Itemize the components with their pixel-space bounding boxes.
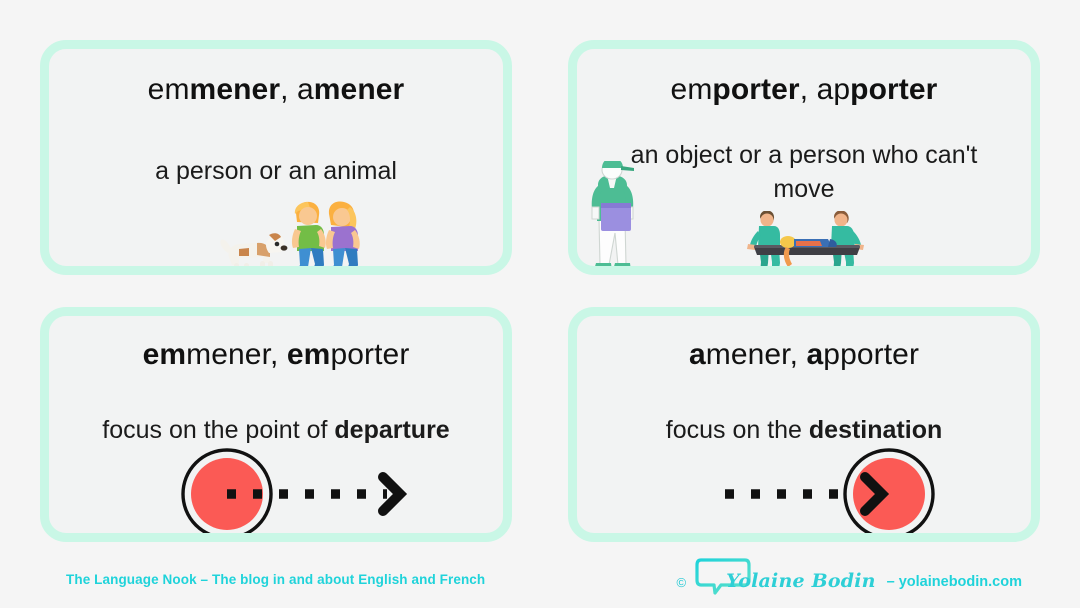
brand-signature[interactable]: © Yolaine Bodin – yolainebodin.com <box>677 556 1052 600</box>
title-part-plain-1: em <box>148 73 190 106</box>
title-part-bold-2: a <box>807 338 824 371</box>
title-part-plain-2: a <box>297 73 314 106</box>
blog-credit-text: The Language Nook – The blog in and abou… <box>66 572 485 587</box>
title-part-plain-2: porter <box>330 338 409 371</box>
title-part-bold-2: mener <box>314 73 405 106</box>
title-part-plain-2: ap <box>817 73 851 106</box>
card-title: emporter, apporter <box>577 73 1031 107</box>
card-emmener-amener: emmener, amener a person or an animal <box>40 40 512 275</box>
card-emporter-apporter: emporter, apporter an object or a person… <box>568 40 1040 275</box>
title-separator: , <box>270 338 287 371</box>
title-part-plain-1: mener <box>706 338 790 371</box>
title-part-plain-1: mener <box>186 338 270 371</box>
card-subtitle: focus on the destination <box>603 414 1005 448</box>
card-subtitle: focus on the point of departure <box>75 414 477 448</box>
card-a-prefix-destination: amener, apporter focus on the destinatio… <box>568 307 1040 542</box>
card-subtitle: a person or an animal <box>75 155 477 189</box>
title-part-bold-1: a <box>689 338 706 371</box>
subtitle-plain: focus on the point of <box>102 416 334 444</box>
title-part-bold-2: em <box>287 338 331 371</box>
departure-marker-arrow-icon <box>179 446 419 542</box>
infographic-board: emmener, amener a person or an animal <box>0 0 1080 608</box>
copyright-icon: © <box>677 576 687 589</box>
title-part-plain-1: em <box>671 73 713 106</box>
subtitle-bold: departure <box>334 416 449 444</box>
card-title: emmener, amener <box>49 73 503 107</box>
subtitle-plain: focus on the <box>666 416 809 444</box>
title-separator: , <box>280 73 297 106</box>
subtitle-bold: destination <box>809 416 942 444</box>
card-subtitle: an object or a person who can't move <box>603 139 1005 207</box>
brand-url-text[interactable]: – yolainebodin.com <box>887 574 1022 590</box>
title-part-bold-1: em <box>143 338 187 371</box>
title-part-bold-2: porter <box>850 73 937 106</box>
title-separator: , <box>790 338 807 371</box>
two-people-walking-dog-icon <box>217 201 361 275</box>
delivery-person-with-box-icon <box>581 161 643 275</box>
title-separator: , <box>800 73 817 106</box>
card-title: emmener, emporter <box>49 338 503 372</box>
card-title: amener, apporter <box>577 338 1031 372</box>
two-paramedics-carrying-stretcher-icon <box>742 211 872 275</box>
title-part-bold-1: mener <box>190 73 281 106</box>
title-part-plain-2: pporter <box>823 338 919 371</box>
destination-marker-arrow-icon <box>697 446 937 542</box>
brand-name-text: Yolaine Bodin <box>726 570 876 592</box>
card-em-prefix-departure: emmener, emporter focus on the point of … <box>40 307 512 542</box>
title-part-bold-1: porter <box>712 73 799 106</box>
